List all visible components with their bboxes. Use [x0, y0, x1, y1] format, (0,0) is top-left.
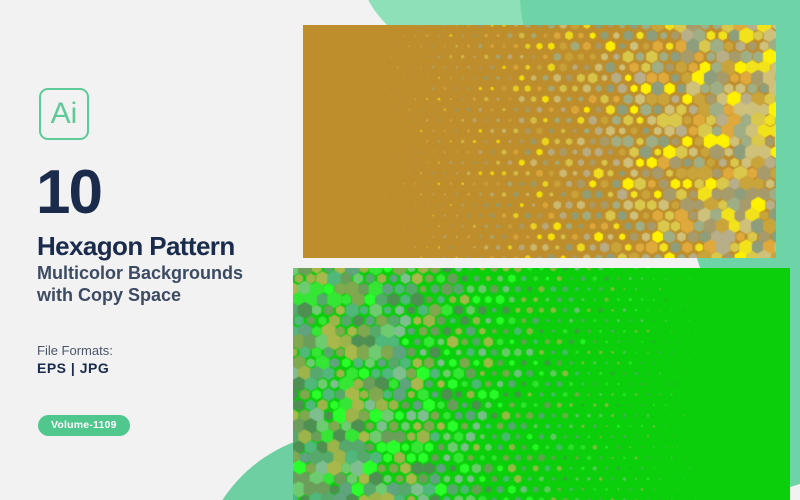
- item-count: 10: [36, 162, 101, 224]
- page-title: Hexagon Pattern: [37, 233, 235, 259]
- page-subtitle: Multicolor Backgrounds with Copy Space: [37, 263, 287, 307]
- gold-hexagon-canvas: [303, 25, 776, 258]
- volume-badge: Volume-1109: [38, 415, 130, 436]
- green-hexagon-canvas: [293, 268, 790, 500]
- file-formats-value: EPS | JPG: [37, 360, 109, 376]
- poster-canvas: Ai 10 Hexagon Pattern Multicolor Backgro…: [0, 0, 800, 500]
- info-column: Ai 10 Hexagon Pattern Multicolor Backgro…: [0, 0, 300, 500]
- ai-badge-label: Ai: [51, 99, 78, 129]
- subtitle-line-2: with Copy Space: [37, 285, 287, 307]
- gold-hexagon-preview: [303, 25, 776, 258]
- file-formats-label: File Formats:: [37, 343, 113, 358]
- green-hexagon-preview: [293, 268, 790, 500]
- adobe-illustrator-badge-icon: Ai: [39, 88, 89, 140]
- subtitle-line-1: Multicolor Backgrounds: [37, 263, 287, 285]
